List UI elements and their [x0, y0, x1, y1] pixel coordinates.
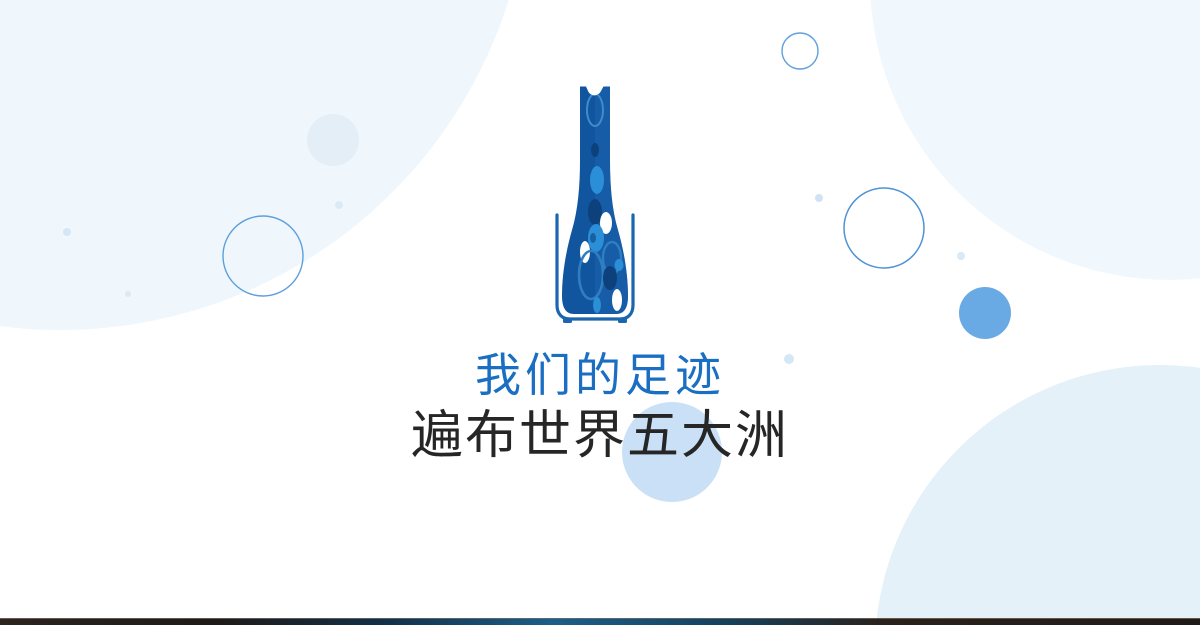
slide-canvas: 我们的足迹 遍布世界五大洲	[0, 0, 1200, 625]
caption-block: 我们的足迹 遍布世界五大洲	[0, 352, 1200, 462]
tiny-dot-6	[335, 201, 343, 209]
blue-bottle-tower-logo	[500, 60, 700, 350]
caption-line-2: 遍布世界五大洲	[0, 410, 1200, 462]
sliver-hairline	[0, 618, 1200, 619]
caption-line-1: 我们的足迹	[0, 352, 1200, 398]
solid-blue-circle	[959, 287, 1011, 339]
logo-body	[562, 86, 628, 314]
tiny-dot-3	[815, 194, 823, 202]
next-slide-sliver	[0, 618, 1200, 625]
tiny-dot-1	[63, 228, 71, 236]
soft-filled-circle-left	[307, 114, 359, 166]
tiny-dot-4	[957, 252, 965, 260]
tiny-dot-2	[125, 291, 131, 297]
